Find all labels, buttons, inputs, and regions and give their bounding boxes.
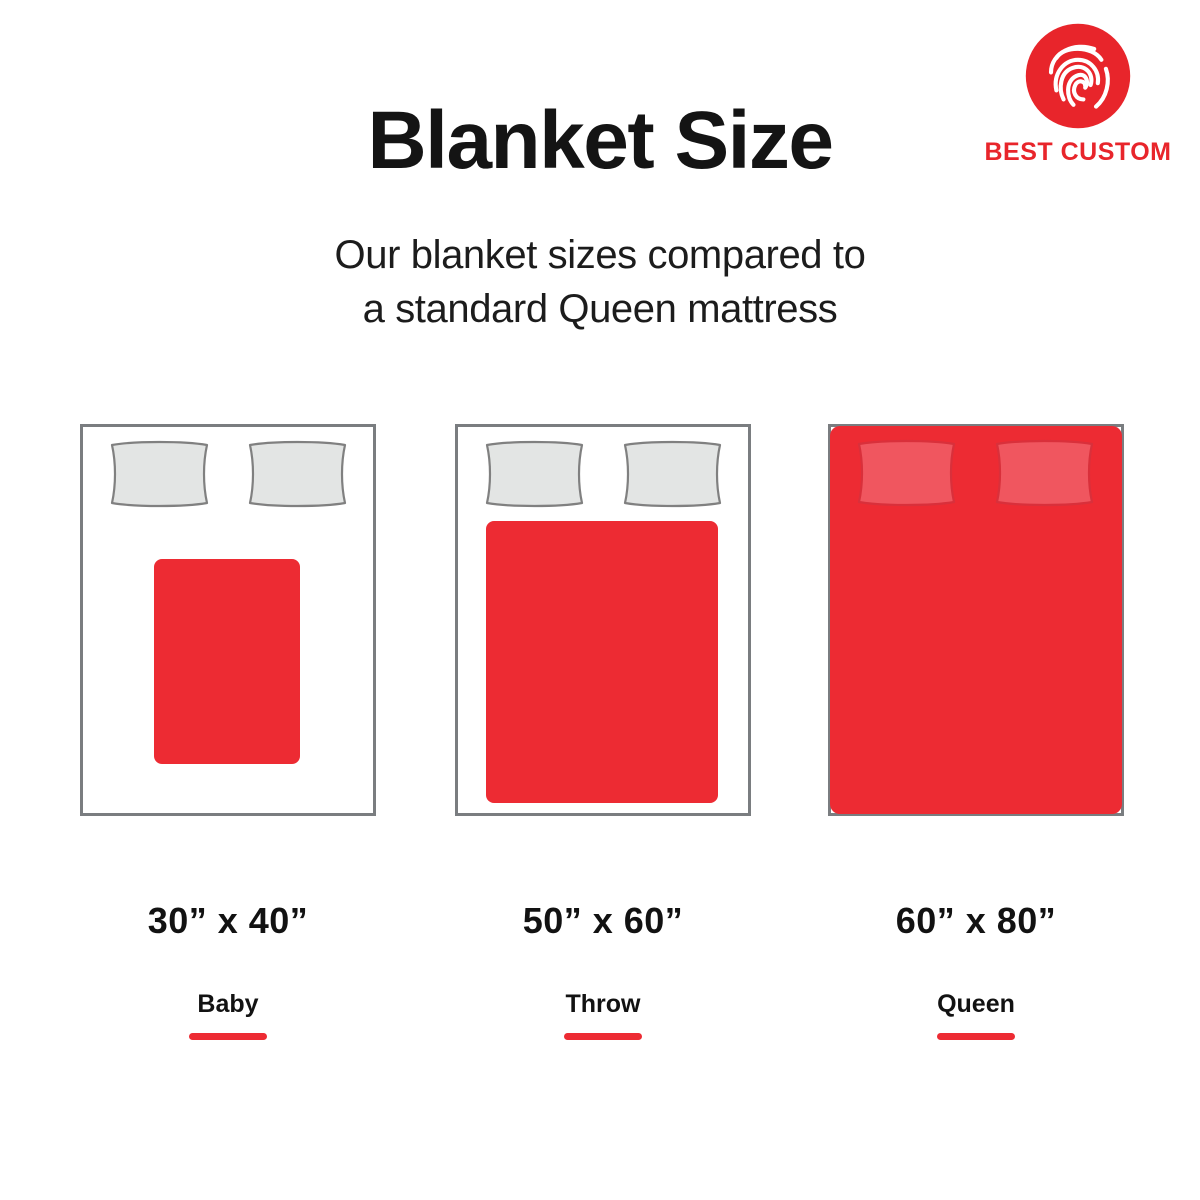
size-name-label: Queen [828, 990, 1124, 1019]
bed-diagram-queen [828, 424, 1124, 816]
blanket-queen [830, 426, 1122, 814]
pillow-left [854, 438, 959, 508]
pillow-left [482, 439, 587, 509]
pillow-right [620, 439, 725, 509]
dimension-label: 50” x 60” [455, 900, 751, 942]
dimension-label: 30” x 40” [80, 900, 376, 942]
caption-queen: 60” x 80” Queen [828, 900, 1124, 1040]
caption-baby: 30” x 40” Baby [80, 900, 376, 1040]
blanket-baby [154, 559, 300, 764]
pillow-right [992, 438, 1097, 508]
subtitle-line-2: a standard Queen mattress [0, 282, 1200, 336]
caption-throw: 50” x 60” Throw [455, 900, 751, 1040]
blanket-throw [486, 521, 718, 803]
page-title: Blanket Size [0, 98, 1200, 184]
subtitle-line-1: Our blanket sizes compared to [0, 228, 1200, 282]
infographic-page: BEST CUSTOM Blanket Size Our blanket siz… [0, 0, 1200, 1200]
size-name-label: Throw [455, 990, 751, 1019]
bed-diagram-baby [80, 424, 376, 816]
dimension-label: 60” x 80” [828, 900, 1124, 942]
accent-rule [189, 1033, 267, 1040]
page-subtitle: Our blanket sizes compared to a standard… [0, 228, 1200, 336]
pillow-left [107, 439, 212, 509]
size-name-label: Baby [80, 990, 376, 1019]
bed-diagram-throw [455, 424, 751, 816]
accent-rule [564, 1033, 642, 1040]
accent-rule [937, 1033, 1015, 1040]
pillow-right [245, 439, 350, 509]
